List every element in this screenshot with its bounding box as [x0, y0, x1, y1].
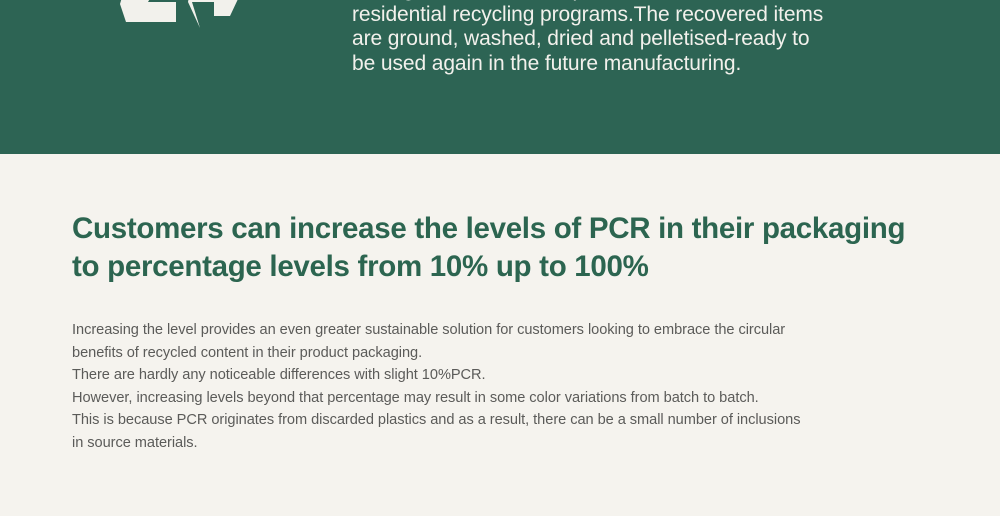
section-heading-line-2: to percentage levels from 10% up to 100%: [72, 248, 952, 286]
hero-line-4: be used again in the future manufacturin…: [352, 52, 882, 77]
hero-line-2: residential recycling programs.The recov…: [352, 3, 882, 28]
hero-line-3: are ground, washed, dried and pelletised…: [352, 27, 882, 52]
section-heading: Customers can increase the levels of PCR…: [72, 210, 952, 286]
body-line-1: Increasing the level provides an even gr…: [72, 319, 972, 342]
hero-band: sorting of these discard plastics in com…: [0, 0, 1000, 154]
body-line-3: There are hardly any noticeable differen…: [72, 364, 972, 387]
page-root: sorting of these discard plastics in com…: [0, 0, 1000, 516]
body-line-4: However, increasing levels beyond that p…: [72, 387, 972, 410]
content-section: Customers can increase the levels of PCR…: [0, 154, 1000, 516]
body-line-6: in source materials.: [72, 432, 972, 455]
section-body: Increasing the level provides an even gr…: [72, 319, 972, 455]
body-line-2: benefits of recycled content in their pr…: [72, 342, 972, 365]
recycling-arrows-icon: [118, 0, 248, 28]
hero-paragraph: sorting of these discard plastics in com…: [352, 0, 882, 76]
body-line-5: This is because PCR originates from disc…: [72, 409, 972, 432]
section-heading-line-1: Customers can increase the levels of PCR…: [72, 210, 952, 248]
